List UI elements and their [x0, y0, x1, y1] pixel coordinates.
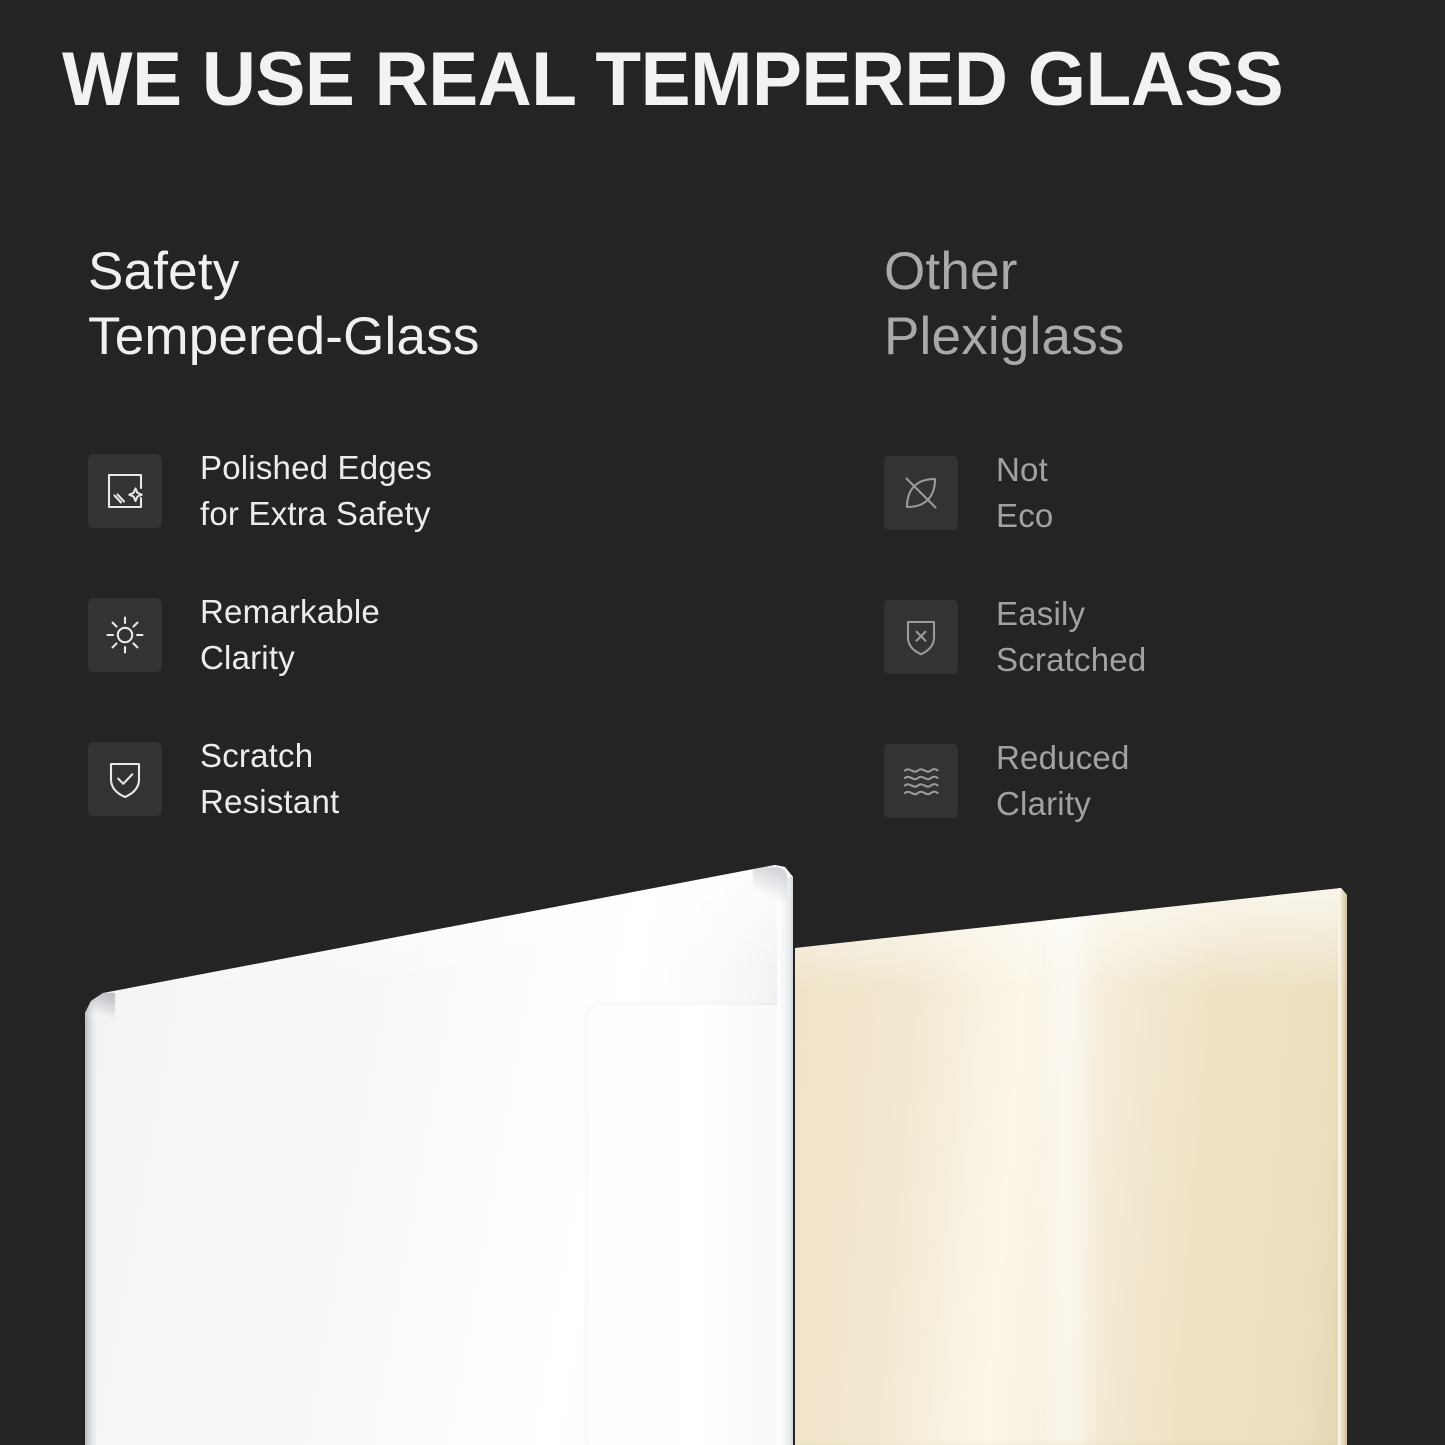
wavy-lines-reduced-clarity-icon: [884, 744, 958, 818]
shield-x-icon: [884, 600, 958, 674]
feature-list-tempered-glass: Polished Edges for Extra Safety Remarkab…: [88, 448, 432, 822]
feature-row: Scratch Resistant: [88, 736, 432, 822]
shield-check-icon: [88, 742, 162, 816]
page-title: WE USE REAL TEMPERED GLASS: [62, 42, 1382, 118]
plexiglass-reflection-band: [1033, 880, 1101, 1445]
feature-label: Scratch Resistant: [200, 733, 339, 824]
feature-row: Reduced Clarity: [884, 738, 1146, 824]
glass-panels-photo: [0, 840, 1445, 1445]
tempered-glass-polished-right-edge: [777, 877, 793, 1445]
polished-glass-pane-sparkle-icon: [88, 454, 162, 528]
tempered-glass-top-left-corner-gloss: [85, 993, 115, 1019]
feature-list-plexiglass: Not Eco Easily Scratched: [884, 450, 1146, 824]
plexiglass-right-edge: [1338, 888, 1347, 1445]
feature-row: Remarkable Clarity: [88, 592, 432, 678]
tempered-glass-top-sheen: [93, 865, 793, 1025]
tempered-glass-reflection: [588, 1005, 793, 1445]
feature-label: Reduced Clarity: [996, 735, 1130, 826]
plexiglass-panel-image: [795, 840, 1347, 1445]
feature-row: Easily Scratched: [884, 594, 1146, 680]
feature-label: Polished Edges for Extra Safety: [200, 445, 432, 536]
column-heading-tempered-glass: Safety Tempered-Glass: [88, 240, 480, 369]
tempered-glass-polished-left-edge: [85, 993, 96, 1445]
leaf-slashed-not-eco-icon: [884, 456, 958, 530]
tempered-glass-panel-image: [85, 865, 793, 1445]
sun-clarity-icon: [88, 598, 162, 672]
feature-row: Not Eco: [884, 450, 1146, 536]
feature-label: Easily Scratched: [996, 591, 1146, 682]
column-heading-plexiglass: Other Plexiglass: [884, 240, 1125, 369]
comparison-infographic: WE USE REAL TEMPERED GLASS Safety Temper…: [0, 0, 1445, 1445]
tempered-glass-top-right-corner-gloss: [753, 867, 787, 907]
feature-row: Polished Edges for Extra Safety: [88, 448, 432, 534]
feature-label: Not Eco: [996, 447, 1053, 538]
feature-label: Remarkable Clarity: [200, 589, 380, 680]
